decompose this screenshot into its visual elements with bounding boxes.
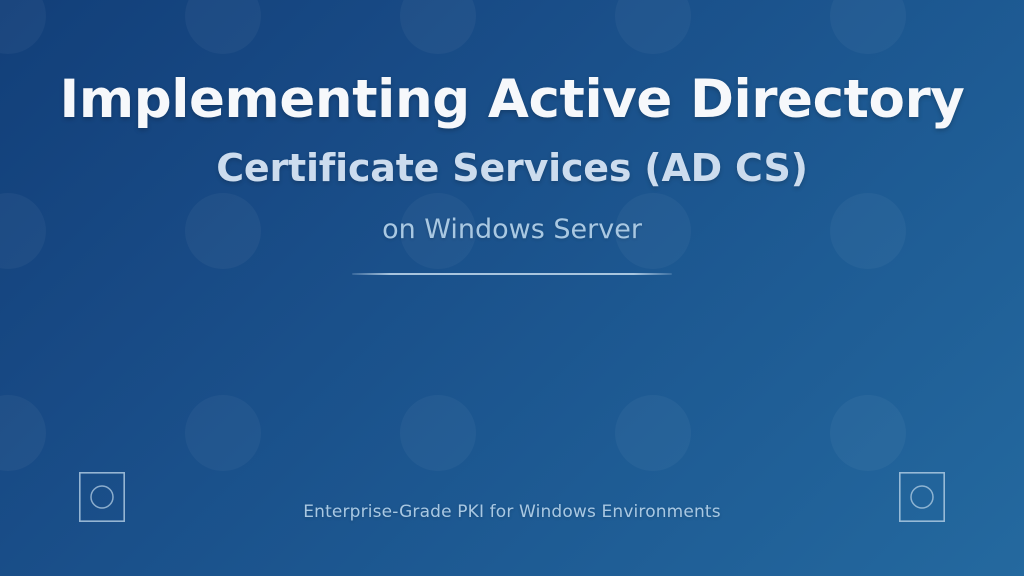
- slide-title: Implementing Active Directory: [60, 72, 965, 128]
- title-slide: Implementing Active Directory Certificat…: [0, 0, 1024, 576]
- certificate-seal-icon-right: [899, 472, 945, 522]
- slide-tertiary-line: on Windows Server: [382, 215, 642, 245]
- certificate-seal-icon-left: [79, 472, 125, 522]
- slide-content: Implementing Active Directory Certificat…: [0, 0, 1024, 576]
- slide-subtitle: Certificate Services (AD CS): [216, 148, 808, 188]
- footer-caption: Enterprise-Grade PKI for Windows Environ…: [0, 502, 1024, 522]
- title-divider: [352, 273, 672, 275]
